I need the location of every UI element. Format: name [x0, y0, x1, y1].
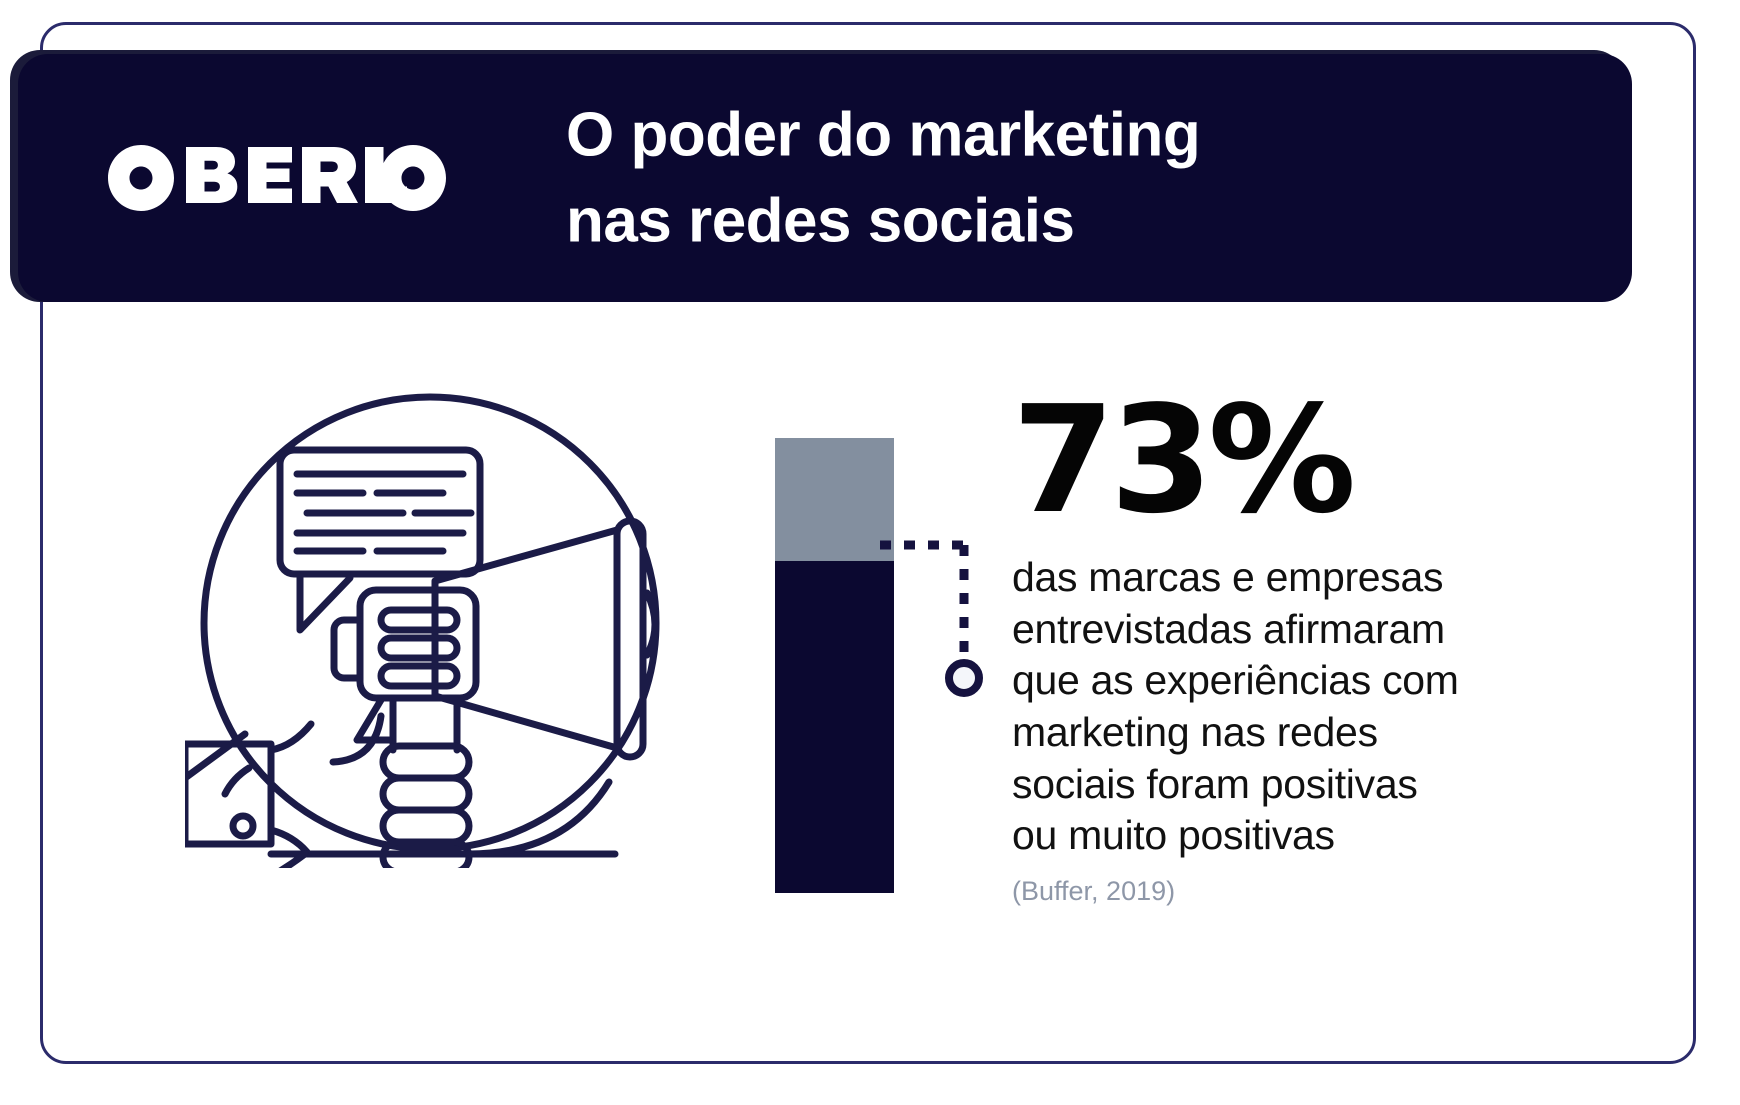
oberlo-logo-wordmark: [108, 145, 448, 211]
header-bar: O poder do marketing nas redes sociais: [18, 54, 1632, 302]
oberlo-logo[interactable]: [108, 145, 448, 211]
progress-bar-chart: [775, 438, 894, 893]
speech-bubble-lines: [297, 474, 471, 551]
stat-description: das marcas e empresas entrevistadas afir…: [1012, 552, 1572, 862]
megaphone-side-knob: [334, 620, 360, 678]
illustration-svg: [185, 378, 675, 868]
megaphone-rim-bulge: [647, 593, 655, 655]
megaphone-speech-bubble-icon: [185, 378, 675, 868]
sleeve-to-hand-top: [271, 724, 311, 750]
megaphone-cone: [435, 530, 617, 748]
page-title: O poder do marketing nas redes sociais: [566, 92, 1200, 263]
infographic-canvas: O poder do marketing nas redes sociais: [0, 0, 1740, 1105]
stat-block: 73% das marcas e empresas entrevistadas …: [1012, 392, 1572, 907]
bar-segment-value: [775, 561, 894, 893]
sleeve-button: [233, 816, 253, 836]
megaphone-grille: [381, 610, 457, 686]
megaphone-handle-stem: [393, 698, 457, 750]
stat-source-citation: (Buffer, 2019): [1012, 876, 1572, 907]
sleeve-to-hand-bottom: [271, 830, 307, 852]
bar-segment-remainder: [775, 438, 894, 561]
stat-percentage: 73%: [1012, 392, 1572, 528]
